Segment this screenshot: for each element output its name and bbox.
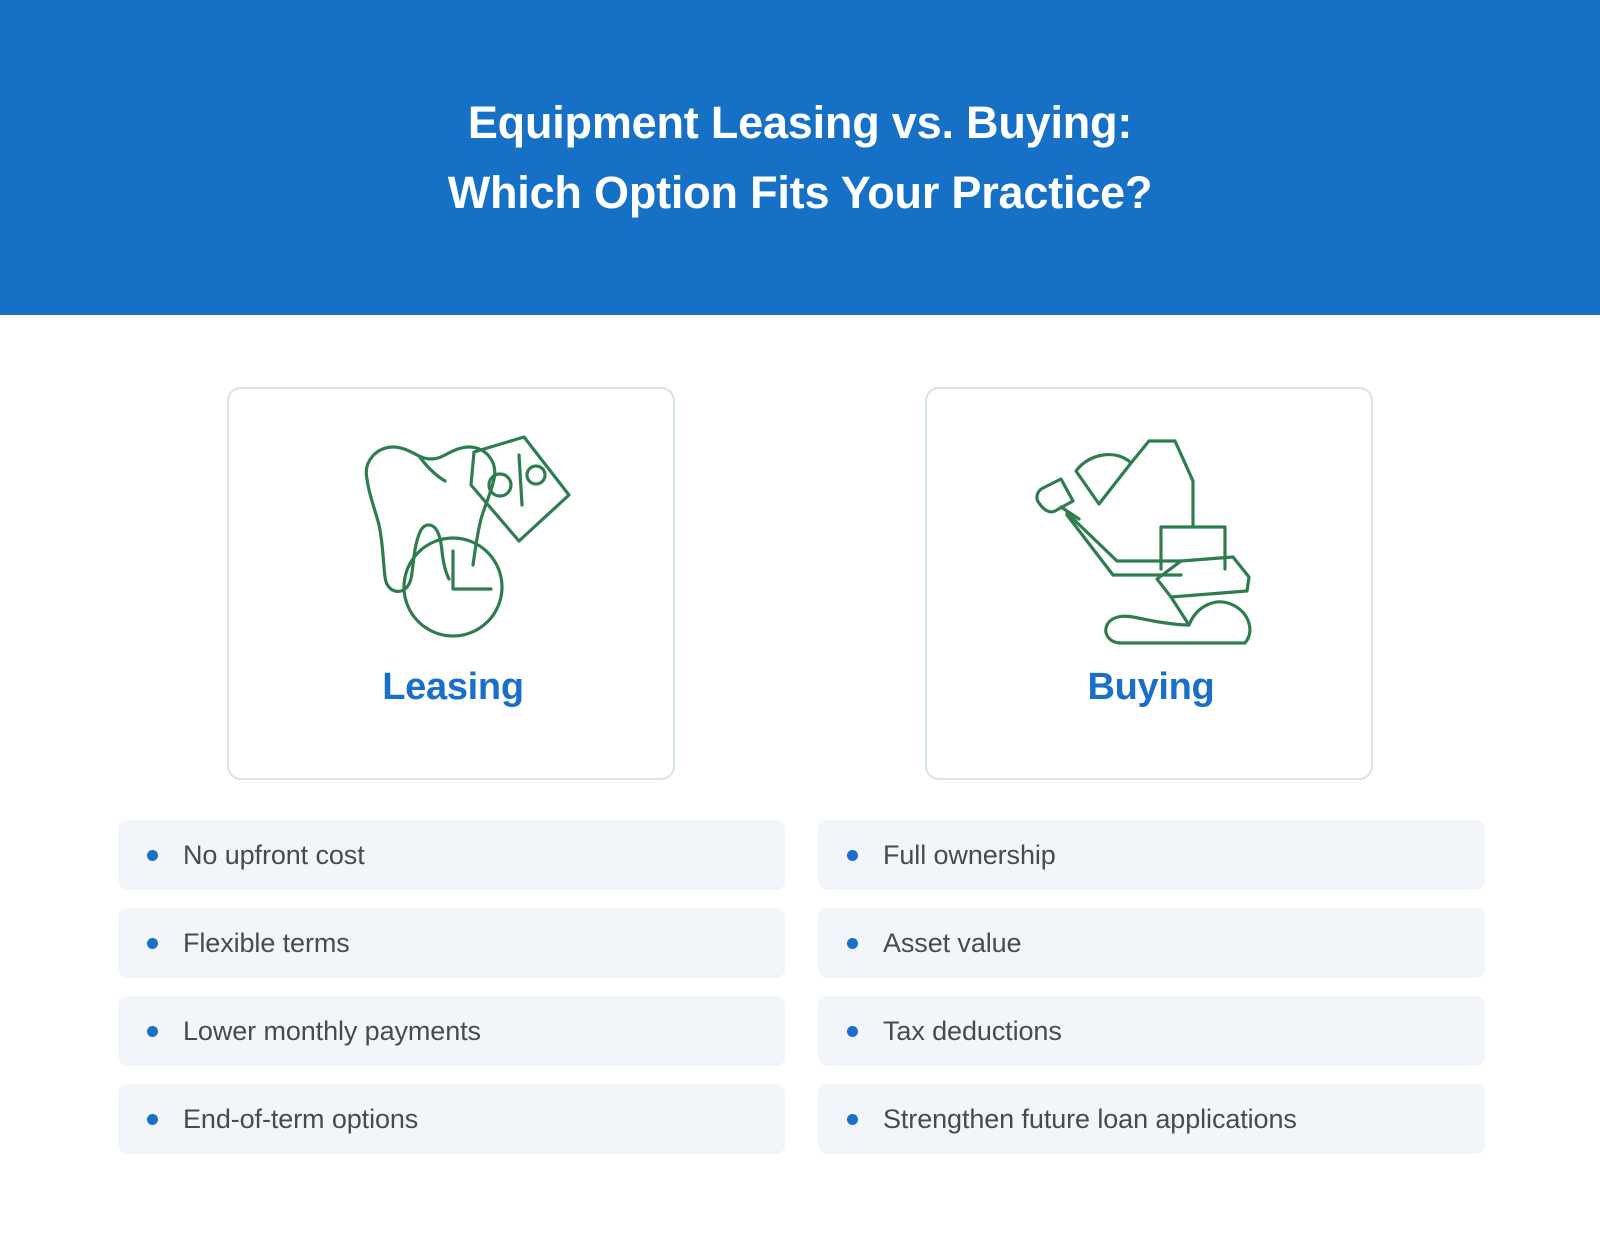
page-title-line-2: Which Option Fits Your Practice? <box>0 158 1600 228</box>
list-item[interactable]: Strengthen future loan applications <box>818 1084 1485 1154</box>
option-card-label-leasing: Leasing <box>229 666 677 709</box>
bullet-icon <box>847 938 858 949</box>
list-item[interactable]: Asset value <box>818 908 1485 978</box>
list-item-label: Full ownership <box>883 839 1056 871</box>
benefit-lists: No upfront cost Flexible terms Lower mon… <box>0 820 1600 1150</box>
bullet-icon <box>847 1026 858 1037</box>
list-item-label: Strengthen future loan applications <box>883 1103 1297 1135</box>
dental-chair-icon <box>927 409 1375 659</box>
list-item[interactable]: Tax deductions <box>818 996 1485 1066</box>
infographic-page: Equipment Leasing vs. Buying: Which Opti… <box>0 0 1600 1256</box>
bullet-icon <box>847 1114 858 1125</box>
bullet-icon <box>847 850 858 861</box>
bullet-icon <box>147 850 158 861</box>
bullet-icon <box>147 1114 158 1125</box>
list-item[interactable]: Lower monthly payments <box>118 996 785 1066</box>
list-item[interactable]: Flexible terms <box>118 908 785 978</box>
list-item-label: Flexible terms <box>183 927 350 959</box>
list-item[interactable]: End-of-term options <box>118 1084 785 1154</box>
list-item[interactable]: Full ownership <box>818 820 1485 890</box>
list-item-label: Tax deductions <box>883 1015 1062 1047</box>
option-card-label-buying: Buying <box>927 666 1375 709</box>
list-item[interactable]: No upfront cost <box>118 820 785 890</box>
header-banner: Equipment Leasing vs. Buying: Which Opti… <box>0 0 1600 315</box>
page-title-line-1: Equipment Leasing vs. Buying: <box>0 88 1600 158</box>
bullet-icon <box>147 938 158 949</box>
benefit-list-leasing: No upfront cost Flexible terms Lower mon… <box>118 820 785 1154</box>
benefit-list-buying: Full ownership Asset value Tax deduction… <box>818 820 1485 1154</box>
list-item-label: Asset value <box>883 927 1021 959</box>
tooth-price-tag-clock-icon <box>229 409 677 659</box>
page-title: Equipment Leasing vs. Buying: Which Opti… <box>0 88 1600 228</box>
list-item-label: End-of-term options <box>183 1103 418 1135</box>
option-cards: Leasing <box>0 387 1600 780</box>
option-card-buying[interactable]: Buying <box>925 387 1373 780</box>
bullet-icon <box>147 1026 158 1037</box>
list-item-label: Lower monthly payments <box>183 1015 481 1047</box>
option-card-leasing[interactable]: Leasing <box>227 387 675 780</box>
list-item-label: No upfront cost <box>183 839 365 871</box>
